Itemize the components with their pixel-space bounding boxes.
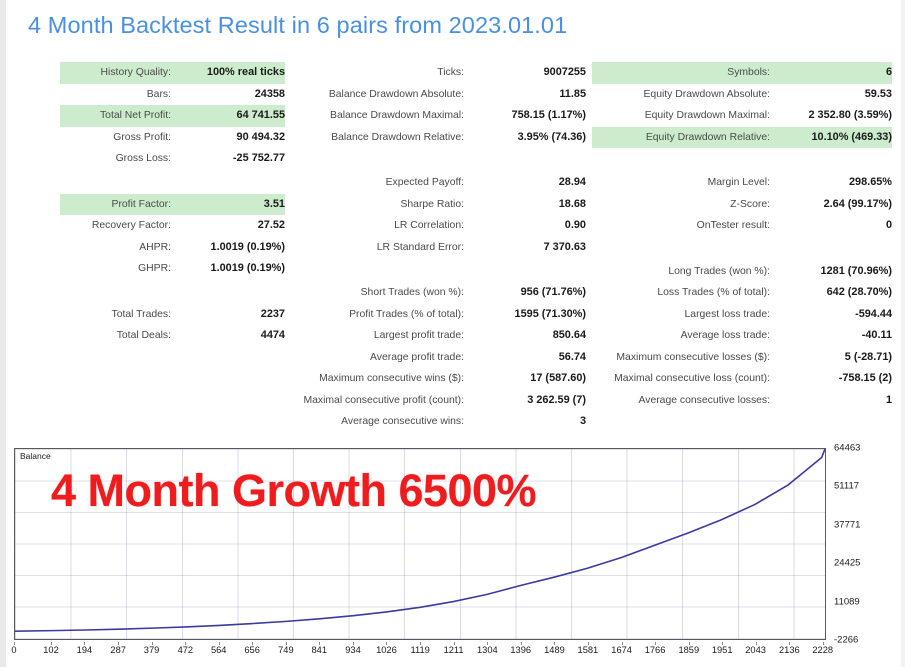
report-row-label: Maximum consecutive wins ($): [286, 368, 474, 390]
report-row: OnTester result:0 [592, 215, 892, 237]
report-row-value: 3 [474, 411, 586, 433]
balance-chart: Balance 4 Month Growth 6500% 64463511173… [14, 448, 891, 667]
y-axis-tick-label: 51117 [834, 481, 859, 492]
report-row-label: Balance Drawdown Absolute: [286, 84, 474, 106]
report-row-label: Average consecutive wins: [286, 411, 474, 433]
x-axis-tick-label: 2228 [812, 645, 833, 655]
report-row: Total Trades:2237 [60, 304, 285, 326]
report-column-3: Symbols:6Equity Drawdown Absolute:59.53E… [592, 62, 892, 411]
report-row: Ticks:9007255 [286, 62, 586, 84]
x-axis-tick-label: 2136 [779, 645, 800, 655]
report-row-label: Equity Drawdown Maximal: [592, 105, 780, 127]
report-row: Equity Drawdown Maximal:2 352.80 (3.59%) [592, 105, 892, 127]
report-row: GHPR:1.0019 (0.19%) [60, 258, 285, 280]
report-row-label: Z-Score: [592, 194, 780, 216]
growth-overlay-text: 4 Month Growth 6500% [51, 465, 536, 517]
report-row-label: Profit Factor: [60, 194, 181, 216]
report-row-value: 1595 (71.30%) [474, 304, 586, 326]
report-row-label: Bars: [60, 84, 181, 106]
report-row: Symbols:6 [592, 62, 892, 84]
report-row-label: History Quality: [60, 62, 181, 84]
report-row: Largest profit trade:850.64 [286, 325, 586, 347]
report-row-value: 2237 [181, 304, 285, 326]
x-axis-tick-label: 934 [345, 645, 361, 655]
report-row-value: 5 (-28.71) [780, 347, 892, 369]
report-column-1: History Quality:100% real ticksBars:2435… [60, 62, 285, 347]
report-row-value: 2 352.80 (3.59%) [780, 105, 892, 127]
report-row: Gross Profit:90 494.32 [60, 127, 285, 149]
report-row: Loss Trades (% of total):642 (28.70%) [592, 282, 892, 304]
report-row-label: Loss Trades (% of total): [592, 282, 780, 304]
x-axis-tick-label: 1304 [477, 645, 498, 655]
chart-plot-area: Balance 4 Month Growth 6500% [14, 448, 826, 640]
report-row: Average profit trade:56.74 [286, 347, 586, 369]
y-axis-tick-label: -2266 [834, 635, 858, 646]
report-row: Margin Level:298.65% [592, 172, 892, 194]
report-row-value: 2.64 (99.17%) [780, 194, 892, 216]
report-row-value: 3 262.59 (7) [474, 390, 586, 412]
report-row-value: 100% real ticks [181, 62, 285, 84]
report-row-spacer [592, 148, 892, 172]
chart-series-label: Balance [18, 451, 53, 461]
report-row: Short Trades (won %):956 (71.76%) [286, 282, 586, 304]
report-row-label: Sharpe Ratio: [286, 194, 474, 216]
report-row-label: Expected Payoff: [286, 172, 474, 194]
report-row-value: 758.15 (1.17%) [474, 105, 586, 127]
report-row-label: Recovery Factor: [60, 215, 181, 237]
report-row: Maximum consecutive wins ($):17 (587.60) [286, 368, 586, 390]
report-row-value: 0.90 [474, 215, 586, 237]
x-axis-tick-label: 1581 [578, 645, 599, 655]
report-row: Long Trades (won %):1281 (70.96%) [592, 261, 892, 283]
x-axis-tick-label: 1026 [376, 645, 397, 655]
report-row-label: Average consecutive losses: [592, 390, 780, 412]
report-row: LR Correlation:0.90 [286, 215, 586, 237]
report-row-value: 1 [780, 390, 892, 412]
report-row-value: 11.85 [474, 84, 586, 106]
report-row-value: 642 (28.70%) [780, 282, 892, 304]
report-row-spacer [60, 280, 285, 304]
report-row-label: Total Deals: [60, 325, 181, 347]
report-row-value: 956 (71.76%) [474, 282, 586, 304]
report-row: LR Standard Error:7 370.63 [286, 237, 586, 259]
report-row: Sharpe Ratio:18.68 [286, 194, 586, 216]
report-row-label: Margin Level: [592, 172, 780, 194]
x-axis-tick-label: 1674 [611, 645, 632, 655]
report-row-value: 9007255 [474, 62, 586, 84]
x-axis-tick-label: 1489 [544, 645, 565, 655]
report-row-label: Total Net Profit: [60, 105, 181, 127]
report-row-value: 3.95% (74.36) [474, 127, 586, 149]
x-axis-tick-label: 1766 [645, 645, 666, 655]
report-row: Profit Trades (% of total):1595 (71.30%) [286, 304, 586, 326]
x-axis-tick-label: 1211 [444, 645, 464, 655]
report-row: Maximal consecutive profit (count):3 262… [286, 390, 586, 412]
report-row-spacer [60, 170, 285, 194]
chart-x-axis: 0102194287379472564656749841934102611191… [14, 642, 826, 664]
x-axis-tick-label: 656 [244, 645, 260, 655]
report-row-label: OnTester result: [592, 215, 780, 237]
report-row: Average consecutive wins:3 [286, 411, 586, 433]
report-row: Expected Payoff:28.94 [286, 172, 586, 194]
report-row-value: 27.52 [181, 215, 285, 237]
report-row-value: 1281 (70.96%) [780, 261, 892, 283]
x-axis-tick-label: 1951 [712, 645, 733, 655]
report-row: AHPR:1.0019 (0.19%) [60, 237, 285, 259]
report-row: Balance Drawdown Absolute:11.85 [286, 84, 586, 106]
report-row-value: 298.65% [780, 172, 892, 194]
report-column-2: Ticks:9007255Balance Drawdown Absolute:1… [286, 62, 586, 433]
report-row: Total Deals:4474 [60, 325, 285, 347]
report-row: Maximal consecutive loss (count):-758.15… [592, 368, 892, 390]
report-row-label: Profit Trades (% of total): [286, 304, 474, 326]
report-row: Equity Drawdown Absolute:59.53 [592, 84, 892, 106]
x-axis-tick-label: 1859 [678, 645, 699, 655]
report-row-value: 90 494.32 [181, 127, 285, 149]
y-axis-tick-label: 37771 [834, 519, 860, 530]
report-row-value: 17 (587.60) [474, 368, 586, 390]
report-row-label: Total Trades: [60, 304, 181, 326]
x-axis-tick-label: 287 [110, 645, 126, 655]
chart-y-axis: 6446351117377712442511089-2266 [830, 448, 892, 640]
report-row: Profit Factor:3.51 [60, 194, 285, 216]
backtest-report: History Quality:100% real ticksBars:2435… [0, 62, 905, 430]
x-axis-tick-label: 841 [312, 645, 328, 655]
report-row-value: 64 741.55 [181, 105, 285, 127]
report-row-label: AHPR: [60, 237, 181, 259]
x-axis-tick-label: 472 [178, 645, 194, 655]
report-row-value: 3.51 [181, 194, 285, 216]
report-row-value: 7 370.63 [474, 237, 586, 259]
report-row-label: Balance Drawdown Maximal: [286, 105, 474, 127]
report-row-label: GHPR: [60, 258, 181, 280]
report-row: Balance Drawdown Relative:3.95% (74.36) [286, 127, 586, 149]
report-row-label: Ticks: [286, 62, 474, 84]
report-row-value: 0 [780, 215, 892, 237]
report-row: History Quality:100% real ticks [60, 62, 285, 84]
report-row-value: 1.0019 (0.19%) [181, 237, 285, 259]
report-row: Average consecutive losses:1 [592, 390, 892, 412]
report-row-label: Gross Profit: [60, 127, 181, 149]
report-row: Largest loss trade:-594.44 [592, 304, 892, 326]
report-row-spacer [286, 148, 586, 172]
x-axis-tick-label: 194 [77, 645, 93, 655]
x-axis-tick-label: 1396 [510, 645, 531, 655]
report-row-label: Largest profit trade: [286, 325, 474, 347]
report-row-label: Balance Drawdown Relative: [286, 127, 474, 149]
y-axis-tick-label: 64463 [834, 443, 860, 454]
page-title: 4 Month Backtest Result in 6 pairs from … [28, 12, 567, 39]
report-row-value: 24358 [181, 84, 285, 106]
report-row-label: Maximum consecutive losses ($): [592, 347, 780, 369]
report-row: Gross Loss:-25 752.77 [60, 148, 285, 170]
report-row-value: 18.68 [474, 194, 586, 216]
report-row: Total Net Profit:64 741.55 [60, 105, 285, 127]
report-row-label: Symbols: [592, 62, 780, 84]
x-axis-tick-label: 564 [211, 645, 227, 655]
report-row: Bars:24358 [60, 84, 285, 106]
report-row: Average loss trade:-40.11 [592, 325, 892, 347]
x-axis-tick-label: 102 [43, 645, 59, 655]
x-axis-tick-label: 2043 [745, 645, 766, 655]
y-axis-tick-label: 24425 [834, 558, 860, 569]
report-row-label: Maximal consecutive profit (count): [286, 390, 474, 412]
report-row-spacer [286, 258, 586, 282]
report-row-spacer [592, 237, 892, 261]
report-row: Balance Drawdown Maximal:758.15 (1.17%) [286, 105, 586, 127]
report-row-value: 850.64 [474, 325, 586, 347]
report-row-value: -594.44 [780, 304, 892, 326]
report-row: Z-Score:2.64 (99.17%) [592, 194, 892, 216]
x-axis-tick-label: 1119 [411, 645, 430, 655]
report-row-value: 10.10% (469.33) [780, 127, 892, 149]
report-row-label: LR Standard Error: [286, 237, 474, 259]
y-axis-tick-label: 11089 [834, 596, 860, 607]
report-row-value: 56.74 [474, 347, 586, 369]
report-row-value: -758.15 (2) [780, 368, 892, 390]
report-row-value: 1.0019 (0.19%) [181, 258, 285, 280]
report-row: Recovery Factor:27.52 [60, 215, 285, 237]
report-row-label: Average loss trade: [592, 325, 780, 347]
report-row-value: 6 [780, 62, 892, 84]
report-row-label: Short Trades (won %): [286, 282, 474, 304]
report-row-value: 4474 [181, 325, 285, 347]
report-row-value: -40.11 [780, 325, 892, 347]
x-axis-tick-label: 379 [144, 645, 160, 655]
report-row-label: Gross Loss: [60, 148, 181, 170]
report-row-value: 59.53 [780, 84, 892, 106]
report-row-label: Equity Drawdown Absolute: [592, 84, 780, 106]
x-axis-tick-label: 0 [11, 645, 16, 655]
report-row-label: LR Correlation: [286, 215, 474, 237]
report-row: Equity Drawdown Relative:10.10% (469.33) [592, 127, 892, 149]
report-row: Maximum consecutive losses ($):5 (-28.71… [592, 347, 892, 369]
x-axis-tick-label: 749 [278, 645, 294, 655]
report-row-value: -25 752.77 [181, 148, 285, 170]
report-row-label: Maximal consecutive loss (count): [592, 368, 780, 390]
report-row-value: 28.94 [474, 172, 586, 194]
report-row-label: Largest loss trade: [592, 304, 780, 326]
report-row-label: Long Trades (won %): [592, 261, 780, 283]
report-row-label: Equity Drawdown Relative: [592, 127, 780, 149]
report-row-label: Average profit trade: [286, 347, 474, 369]
